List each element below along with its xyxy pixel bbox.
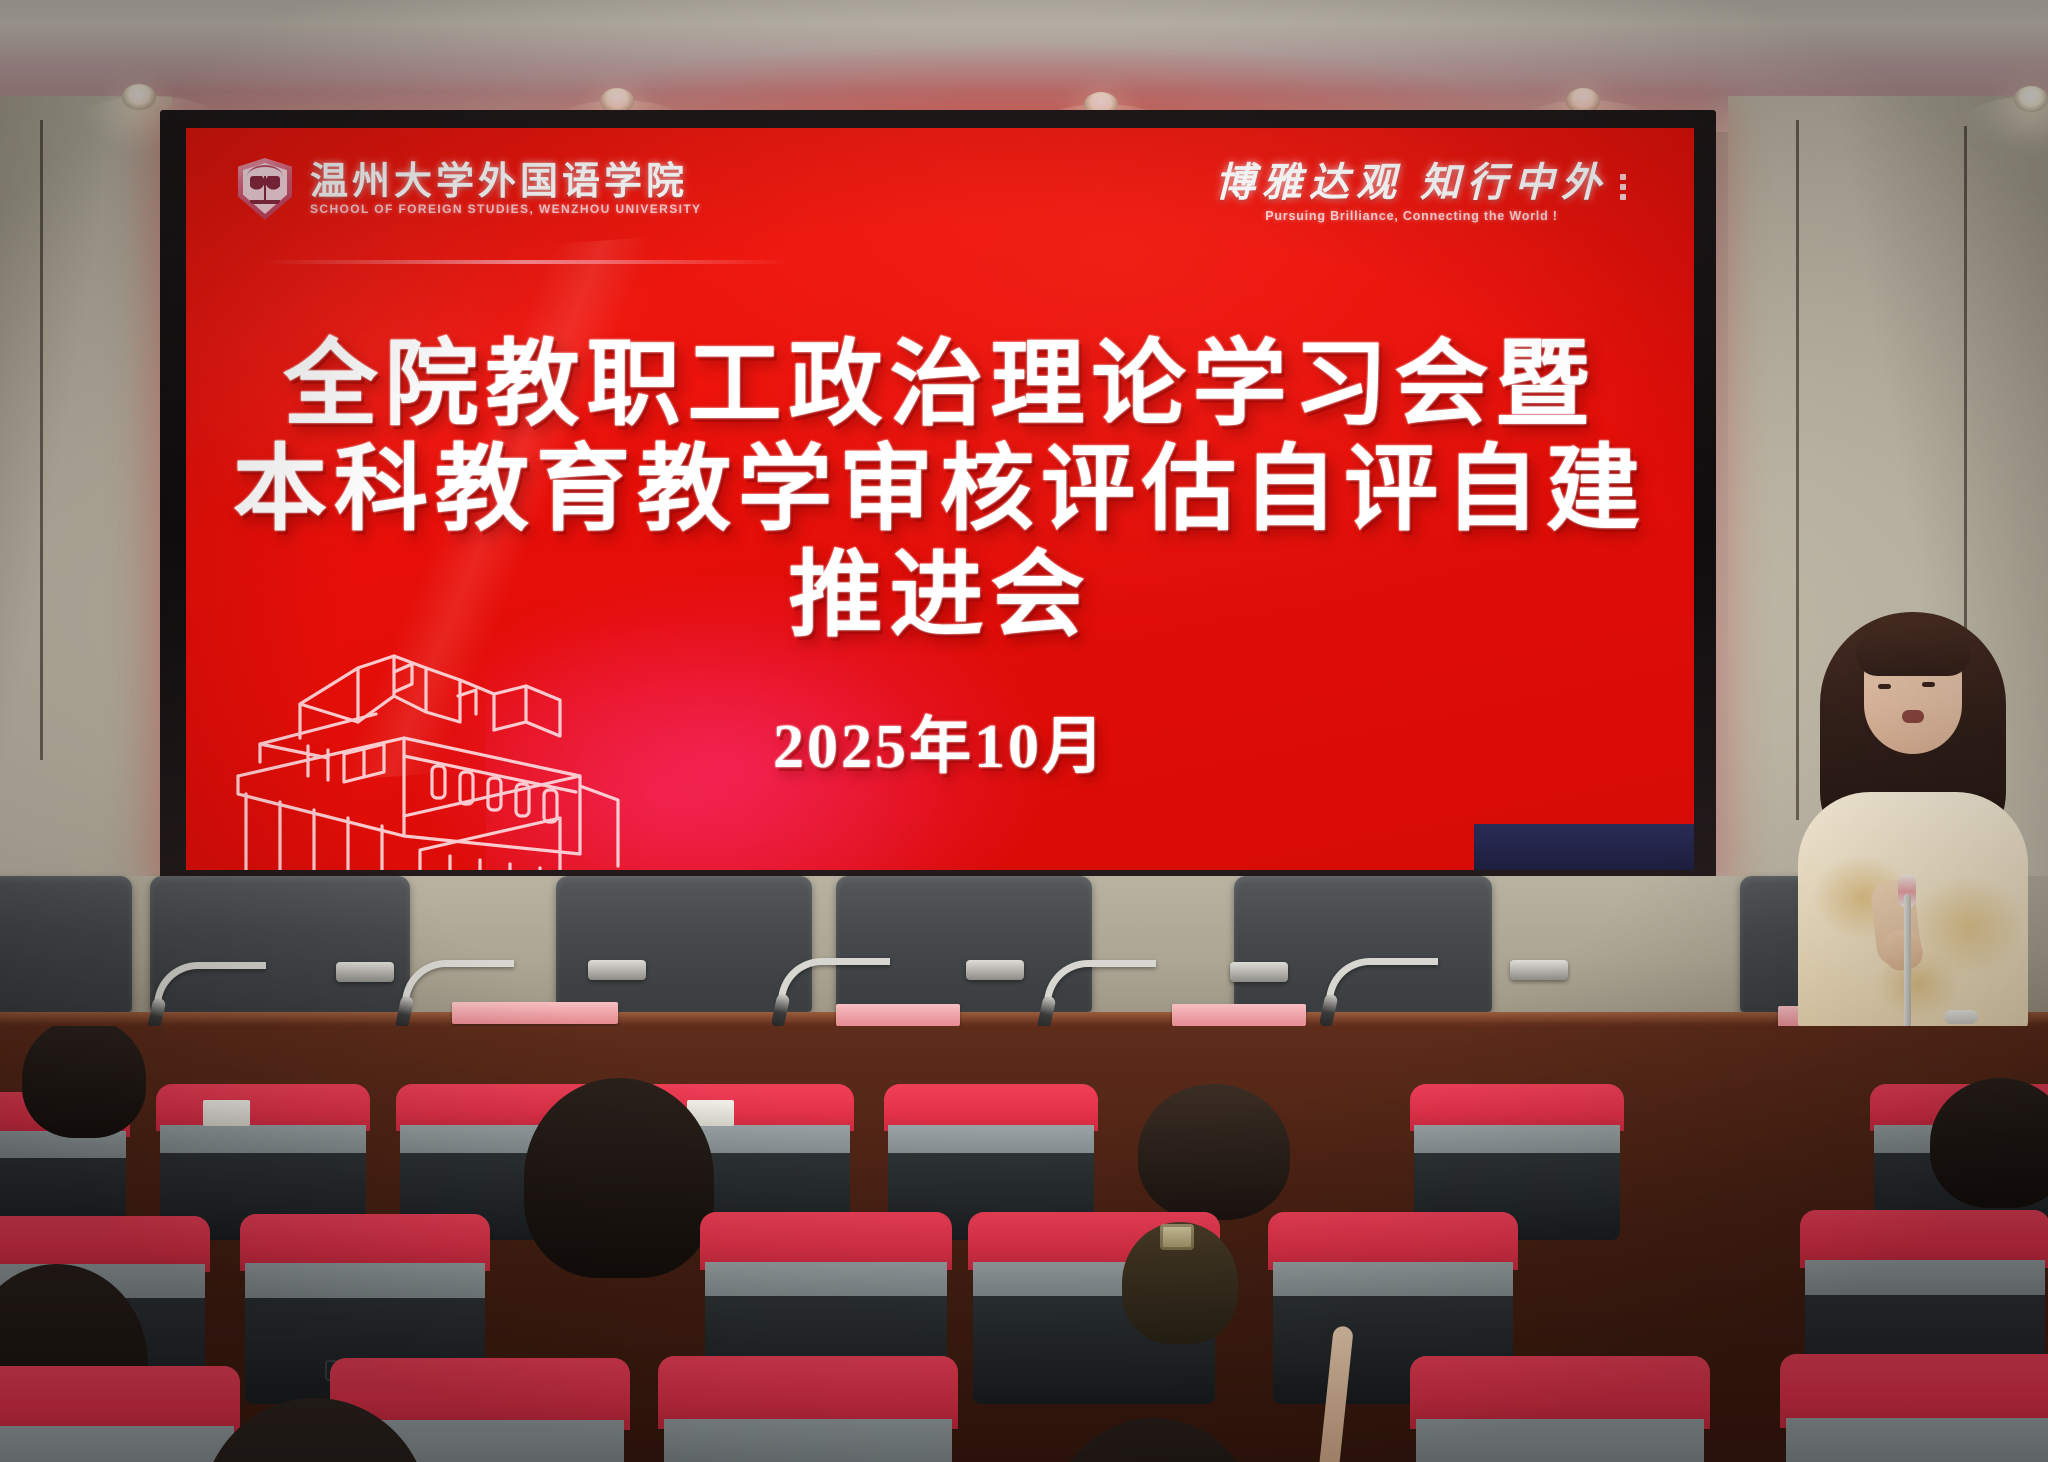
attendee-head: [1044, 1418, 1264, 1462]
handheld-microphone-stem: [1904, 894, 1911, 1042]
attendee-head: [524, 1078, 714, 1278]
seat-number-tag: [203, 1100, 250, 1127]
microphone-base: [1510, 960, 1568, 980]
microphone-base: [966, 960, 1024, 980]
speaker-fringe: [1856, 620, 1970, 676]
left-wall-panel: [0, 96, 172, 876]
podium-nameplate: [1172, 1004, 1306, 1026]
attendee-head: [1138, 1084, 1290, 1220]
microphone-base: [336, 962, 394, 982]
screen-corner-notch: [1474, 824, 1694, 870]
slogan-cn: 博雅达观 知行中外: [1215, 162, 1608, 204]
speaker-eye: [1878, 684, 1891, 689]
podium-nameplate: [452, 1002, 618, 1024]
speaker-mouth: [1902, 710, 1924, 723]
speaker-wristwatch: [1944, 1010, 1978, 1024]
attendee-head: [22, 1026, 146, 1138]
conference-photo: 温州大学外国语学院 SCHOOL OF FOREIGN STUDIES, WEN…: [0, 0, 2048, 1462]
ceiling-spotlight-icon: [122, 84, 156, 110]
ceiling-spotlight-icon: [2014, 86, 2048, 112]
audience-seat: [0, 1366, 240, 1462]
audience-seat: [658, 1356, 958, 1462]
campus-building-line-art-icon: [208, 626, 638, 870]
screen-header: 温州大学外国语学院 SCHOOL OF FOREIGN STUDIES, WEN…: [238, 158, 701, 220]
institution-name-en: SCHOOL OF FOREIGN STUDIES, WENZHOU UNIVE…: [310, 203, 701, 215]
speaker-eye: [1922, 682, 1935, 687]
slogan-block: 博雅达观 知行中外 Pursuing Brilliance, Connectin…: [1215, 162, 1608, 223]
slogan-dots-icon: [1620, 174, 1626, 200]
institution-name-cn: 温州大学外国语学院: [310, 163, 701, 201]
university-crest-icon: [238, 158, 292, 220]
title-line-1: 全院教职工政治理论学习会暨: [186, 333, 1694, 438]
microphone-base: [588, 960, 646, 980]
wall-seam: [40, 120, 43, 760]
audience-seating: [0, 1026, 2048, 1462]
stage-chair: [0, 876, 132, 1012]
header-divider: [260, 260, 790, 264]
speaker-presenter: [1798, 612, 2028, 1032]
audience-seat: [1410, 1356, 1710, 1462]
podium-edge: [0, 1012, 2048, 1023]
led-screen: 温州大学外国语学院 SCHOOL OF FOREIGN STUDIES, WEN…: [186, 128, 1694, 870]
microphone-base: [1230, 962, 1288, 982]
podium-nameplate: [836, 1004, 960, 1026]
slogan-en: Pursuing Brilliance, Connecting the Worl…: [1215, 209, 1608, 223]
stage-chair: [556, 876, 812, 1012]
hair-clip: [1160, 1224, 1194, 1250]
audience-seat: [1780, 1354, 2048, 1462]
title-line-2: 本科教育教学审核评估自评自建推进会: [186, 438, 1694, 649]
